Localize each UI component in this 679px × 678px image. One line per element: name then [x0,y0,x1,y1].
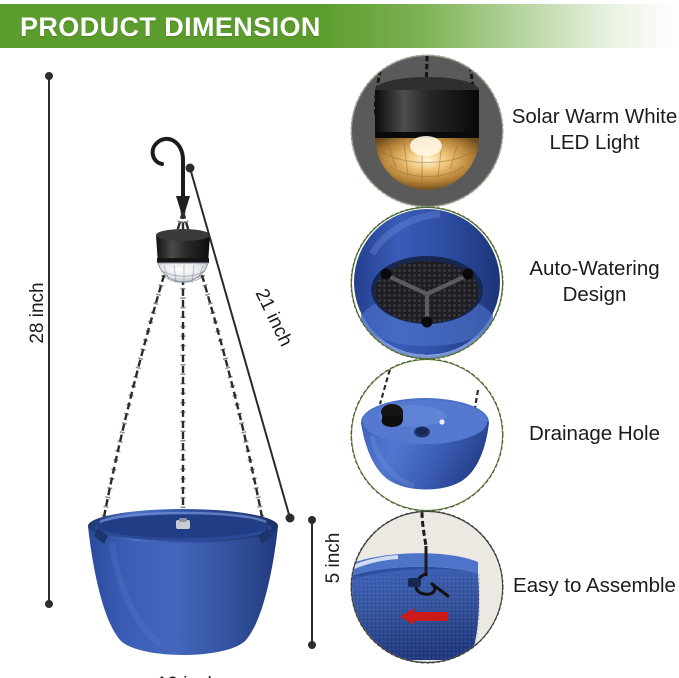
callout-image-auto-watering [352,208,502,358]
callout-image-solar-led [352,56,502,206]
callout-line-2: Design [529,282,659,308]
dimension-diagram: 28 inch 21 inch 5 inch 10 inch [0,52,334,678]
dimension-endpoint-dot [308,641,316,649]
drainage-hole-photo [352,360,502,510]
callout-auto-watering-design: Auto-Watering Design [334,204,679,360]
solar-led-photo [352,56,502,206]
callout-line-1: Drainage Hole [529,421,660,447]
product-dimension-infographic: PRODUCT DIMENSION [0,0,679,678]
callout-label-solar-led: Solar Warm White LED Light [510,52,679,208]
callout-label-easy-assemble: Easy to Assemble [510,508,679,664]
callout-image-drainage-hole [352,360,502,510]
callout-drainage-hole: Drainage Hole [334,356,679,512]
header-banner: PRODUCT DIMENSION [0,4,679,48]
dimension-endpoint-dot [45,600,53,608]
callout-label-auto-watering: Auto-Watering Design [510,204,679,360]
hanging-planter-illustration [0,52,334,678]
callout-line-1: Solar Warm White [512,104,678,130]
callout-easy-to-assemble: Easy to Assemble [334,508,679,664]
callout-line-1: Easy to Assemble [513,573,676,599]
callout-image-easy-assemble [352,512,502,662]
auto-watering-photo [352,208,502,358]
dimension-label-28: 28 inch [27,268,49,358]
dimension-endpoint-dot [45,72,53,80]
callout-solar-led-light: Solar Warm White LED Light [334,52,679,208]
callout-label-drainage-hole: Drainage Hole [510,356,679,512]
hanging-hook-icon [153,139,183,196]
dimension-line-21 [186,164,295,523]
callout-line-1: Auto-Watering [529,256,659,282]
blue-planter-pot [88,509,278,655]
easy-assemble-photo [352,512,502,662]
page-title: PRODUCT DIMENSION [20,13,321,41]
callout-line-2: LED Light [512,130,678,156]
dimension-label-10: 10 inch [95,674,280,678]
feature-callout-list: Solar Warm White LED Light [334,52,679,678]
dimension-endpoint-dot [308,516,316,524]
